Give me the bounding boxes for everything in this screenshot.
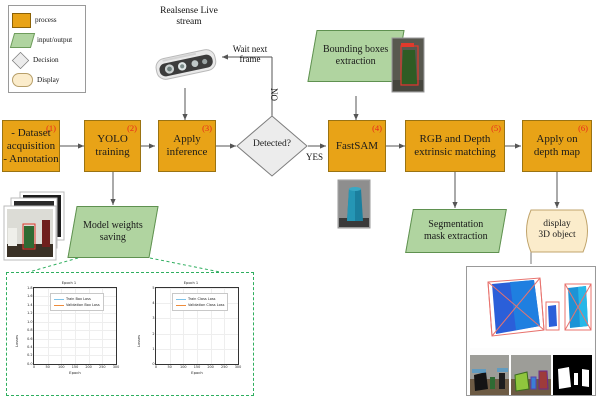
chart-box-loss-ytick-7: 1.4: [27, 303, 32, 307]
chart-class-loss-ylabel: Losses: [137, 335, 141, 347]
legend-label-io: input/output: [37, 36, 72, 44]
process-apply-inference[interactable]: (3) Apply inference: [158, 120, 216, 172]
chart-box-loss-ytick-8: 1.6: [27, 294, 32, 298]
chart-box-loss-xtick-2: 100: [58, 365, 64, 369]
chart-box-loss-ytick-6: 1.2: [27, 311, 32, 315]
training-loss-charts-panel: Epoch 1 0.0 0.2 0.4 0.6 0.: [6, 272, 254, 396]
realsense-caption: Realsense Live stream: [148, 6, 230, 28]
decision-swatch-icon: [12, 51, 29, 68]
legend-label-process: process: [35, 16, 57, 24]
chart-box-loss-ytick-1: 0.2: [27, 353, 32, 357]
chart-box-loss-ytick-3: 0.6: [27, 337, 32, 341]
display-swatch-icon: [12, 73, 33, 87]
detection-thumbnail-image: [470, 355, 509, 395]
edge-label-wait-next-frame: Wait next frame: [226, 44, 274, 64]
step-number-2: (2): [127, 122, 137, 135]
chart-box-loss-legend: Train Box Loss Validation Box Loss: [50, 293, 104, 311]
chart-box-loss-xtick-4: 200: [85, 365, 91, 369]
display-3d-object[interactable]: display 3D object: [521, 209, 593, 253]
result-thumbnails-row: [470, 355, 592, 395]
chart-class-loss-ytick-5: 5: [152, 286, 154, 290]
legend-box: process input/output Decision Display: [8, 5, 86, 93]
io-model-weights-saving[interactable]: Model weights saving: [67, 206, 158, 258]
edge-label-yes: YES: [306, 152, 323, 162]
chart-class-loss-xtick-4: 200: [207, 365, 213, 369]
chart-box-loss-xtick-5: 250: [99, 365, 105, 369]
legend-line-val-box: [54, 305, 64, 306]
legend-text-val-class: Validation Class Loss: [188, 303, 224, 307]
io-segmentation-mask-extraction[interactable]: Segmentation mask extraction: [405, 209, 507, 253]
chart-class-loss-xtick-5: 250: [221, 365, 227, 369]
legend-line-train-box: [54, 299, 64, 300]
chart-box-loss-xtick-3: 150: [72, 365, 78, 369]
chart-box-loss-ylabel: Losses: [15, 335, 19, 347]
chart-box-loss-xlabel: Epoch: [34, 370, 116, 375]
chart-class-loss-xtick-2: 100: [180, 365, 186, 369]
step-number-3: (3): [202, 122, 212, 135]
chart-class-loss-legend: Train Class Loss Validation Class Loss: [172, 293, 228, 311]
step-number-6: (6): [578, 122, 588, 135]
chart-box-loss: Epoch 1 0.0 0.2 0.4 0.6 0.: [15, 281, 123, 389]
process-swatch-icon: [12, 13, 31, 28]
legend-text-train-class: Train Class Loss: [188, 297, 216, 301]
segmentation-overlay-thumbnail-image: [511, 355, 550, 395]
dataset-photo-stack-image: [2, 190, 68, 262]
legend-label-decision: Decision: [33, 56, 59, 64]
step-number-5: (5): [491, 122, 501, 135]
chart-class-loss: Epoch 1 0 1 2 3 4 5 0 50 100: [137, 281, 245, 389]
chart-class-loss-ytick-2: 2: [152, 332, 154, 336]
process-rgb-depth-matching[interactable]: (5) RGB and Depth extrinsic matching: [405, 120, 505, 172]
legend-label-display: Display: [37, 76, 59, 84]
chart-box-loss-ytick-9: 1.8: [27, 286, 32, 290]
chart-class-loss-ytick-4: 4: [152, 301, 154, 305]
realsense-camera-image: [150, 42, 222, 88]
step-number-4: (4): [372, 122, 382, 135]
3d-object-render-image: [470, 270, 594, 348]
chart-class-loss-ytick-1: 1: [152, 347, 154, 351]
binary-mask-thumbnail-image: [553, 355, 592, 395]
display-3d-object-label: display 3D object: [521, 219, 593, 241]
process-fastsam[interactable]: (4) FastSAM: [328, 120, 386, 172]
decision-label: Detected?: [236, 139, 308, 149]
result-visualization-panel: [466, 266, 596, 396]
legend-line-train-class: [176, 299, 186, 300]
chart-class-loss-xtick-3: 150: [194, 365, 200, 369]
chart-class-loss-xlabel: Epoch: [156, 370, 238, 375]
process-dataset-acquisition[interactable]: (1) - Dataset acquisition - Annotation: [2, 120, 60, 172]
legend-item-display: Display: [12, 70, 82, 90]
chart-box-loss-plot: 0.0 0.2 0.4 0.6 0.8 1.0 1.2 1.4 1.6 1.8 …: [33, 287, 117, 365]
chart-box-loss-ytick-2: 0.4: [27, 345, 32, 349]
segmented-cup-image: [336, 178, 372, 230]
chart-box-loss-ytick-5: 1.0: [27, 320, 32, 324]
legend-item-decision: Decision: [12, 50, 82, 70]
step-number-1: (1): [46, 122, 56, 135]
legend-line-val-class: [176, 305, 186, 306]
process-apply-depth-map[interactable]: (6) Apply on depth map: [522, 120, 592, 172]
edge-label-no: NO: [269, 88, 279, 101]
chart-box-loss-xtick-0: 0: [33, 365, 35, 369]
legend-text-val-box: Validation Box Loss: [66, 303, 100, 307]
chart-class-loss-ytick-3: 3: [152, 316, 154, 320]
legend-text-train-box: Train Box Loss: [66, 297, 91, 301]
chart-class-loss-plot: 0 1 2 3 4 5 0 50 100 150 200 250 300 Tra…: [155, 287, 239, 365]
chart-class-loss-xtick-1: 50: [167, 365, 171, 369]
flowchart-canvas: process input/output Decision Display Re…: [0, 0, 600, 400]
bounding-box-detection-image: [390, 36, 426, 94]
decision-detected[interactable]: Detected?: [236, 115, 308, 177]
io-swatch-icon: [10, 33, 35, 48]
chart-class-loss-xtick-0: 0: [155, 365, 157, 369]
chart-box-loss-xtick-1: 50: [45, 365, 49, 369]
process-yolo-training[interactable]: (2) YOLO training: [84, 120, 141, 172]
chart-class-loss-xtick-6: 300: [235, 365, 241, 369]
legend-item-io: input/output: [12, 30, 82, 50]
chart-box-loss-ytick-0: 0.0: [27, 362, 32, 366]
chart-box-loss-ytick-4: 0.8: [27, 328, 32, 332]
legend-item-process: process: [12, 10, 82, 30]
chart-box-loss-xtick-6: 300: [113, 365, 119, 369]
